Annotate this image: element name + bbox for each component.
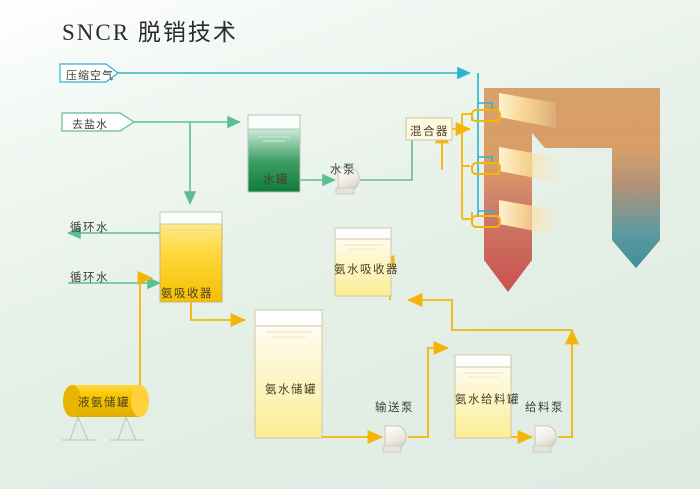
equipment-mixer: [406, 118, 452, 140]
equipment-water-tank: [248, 115, 300, 192]
diagram-canvas: SNCR 脱销技术 压缩空气 去盐水 循环水 循环水 水罐 混合器 氨吸收器 氨…: [0, 0, 700, 489]
circulating-water-lines: [68, 233, 160, 283]
stream-tag-demineralized-water: [62, 113, 134, 131]
equipment-liquid-ammonia-tank: [62, 385, 149, 440]
boiler-furnace: [484, 88, 680, 320]
pump-feed-pump: [533, 426, 556, 452]
equipment-aqua-ammonia-absorber: [335, 228, 391, 296]
compressed-air-line: [112, 73, 492, 218]
equipment-ammonia-absorber: [160, 212, 222, 302]
demineralized-water-line: [128, 122, 240, 204]
equipment-aqua-ammonia-storage: [255, 310, 322, 438]
stream-tag-compressed-air: [60, 64, 118, 82]
pump-water-pump: [336, 168, 359, 194]
equipment-aqua-ammonia-feed: [455, 355, 511, 438]
pump-transfer-pump: [383, 426, 406, 452]
flame-jets: [499, 93, 556, 235]
process-flow-schematic: [0, 0, 700, 489]
